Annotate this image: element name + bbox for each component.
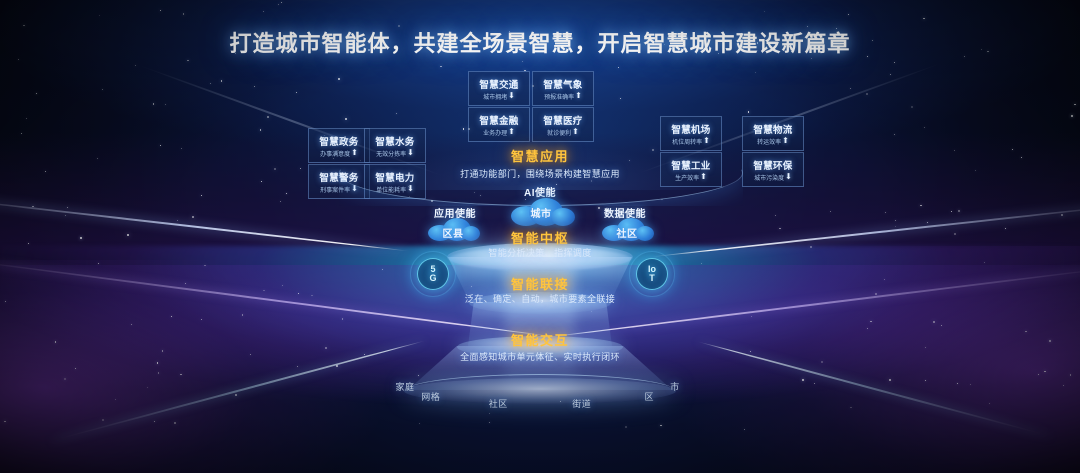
section-title-applications: 智慧应用 [0,146,1080,165]
application-card-title: 智慧医疗 [543,113,582,127]
arrow-up-icon: ⬆ [575,92,582,100]
badge-5g[interactable]: 5 G [417,258,449,290]
application-card-metric-label: 机位周转率 [672,137,702,146]
scale-label-市: 市 [665,380,685,393]
application-card-title: 智慧交通 [479,77,518,91]
layer-subtitle-hub: 智能分析决策、指挥调度 [0,246,1080,259]
scale-label-家庭: 家庭 [395,380,415,393]
application-card-title: 智慧气象 [543,77,582,91]
arrow-up-icon: ⬆ [572,128,579,136]
layer-title-connection: 智能联接 [0,274,1080,293]
scale-label-网格: 网格 [421,390,441,403]
application-card-metric: 机位周转率⬆ [672,137,710,146]
layer-subtitle-interaction: 全面感知城市单元体征、实时执行闭环 [0,350,1080,363]
application-card-metric: 业务办理⬆ [483,128,515,137]
scale-label-区: 区 [639,390,659,403]
arrow-up-icon: ⬆ [782,137,789,145]
platform-disc-base [404,378,676,404]
arrow-down-icon: ⬇ [508,92,515,100]
application-card-metric-label: 业务办理 [483,128,507,137]
arrow-up-icon: ⬆ [703,137,710,145]
layer-title-interaction: 智能交互 [0,330,1080,349]
layer-subtitle-connection: 泛在、确定、自动，城市要素全联接 [0,292,1080,305]
section-subtitle-applications: 打通功能部门，围绕场景构建智慧应用 [0,167,1080,180]
application-card-metric: 就诊便利⬆ [547,128,579,137]
infographic-canvas: 打造城市智能体，共建全场景智慧，开启智慧城市建设新篇章 智慧政务办事满意度⬆智慧… [0,0,1080,473]
application-card-metric: 预报准确率⬆ [544,92,582,101]
application-card-智慧金融[interactable]: 智慧金融业务办理⬆ [468,107,530,142]
label-scope-city: 城市 [505,205,577,220]
page-title: 打造城市智能体，共建全场景智慧，开启智慧城市建设新篇章 [0,26,1080,58]
application-card-metric-label: 预报准确率 [544,92,574,101]
platform-base-arc [404,374,676,409]
application-card-metric-label: 就诊便利 [547,128,571,137]
label-data-enablement: 数据使能 [588,205,662,220]
application-card-智慧医疗[interactable]: 智慧医疗就诊便利⬆ [532,107,594,142]
label-ai-enablement: AI使能 [0,184,1080,199]
application-card-title: 智慧金融 [479,113,518,127]
arrow-up-icon: ⬆ [508,128,515,136]
application-card-metric: 城市拥堵⬇ [483,92,515,101]
application-card-title: 智慧机场 [671,122,710,136]
badge-iot[interactable]: Io T [636,258,668,290]
application-card-智慧交通[interactable]: 智慧交通城市拥堵⬇ [468,71,530,106]
scale-label-社区: 社区 [488,397,508,410]
layer-title-hub: 智能中枢 [0,228,1080,247]
application-card-metric-label: 城市拥堵 [483,92,507,101]
badge-5g-line2: G [429,274,436,283]
scale-label-街道: 街道 [572,397,592,410]
application-card-title: 智慧物流 [753,122,792,136]
badge-iot-line2: T [649,274,655,283]
application-card-智慧气象[interactable]: 智慧气象预报准确率⬆ [532,71,594,106]
application-card-metric: 转运效率⬆ [757,137,789,146]
label-application-enablement: 应用使能 [418,205,492,220]
application-card-metric-label: 转运效率 [757,137,781,146]
